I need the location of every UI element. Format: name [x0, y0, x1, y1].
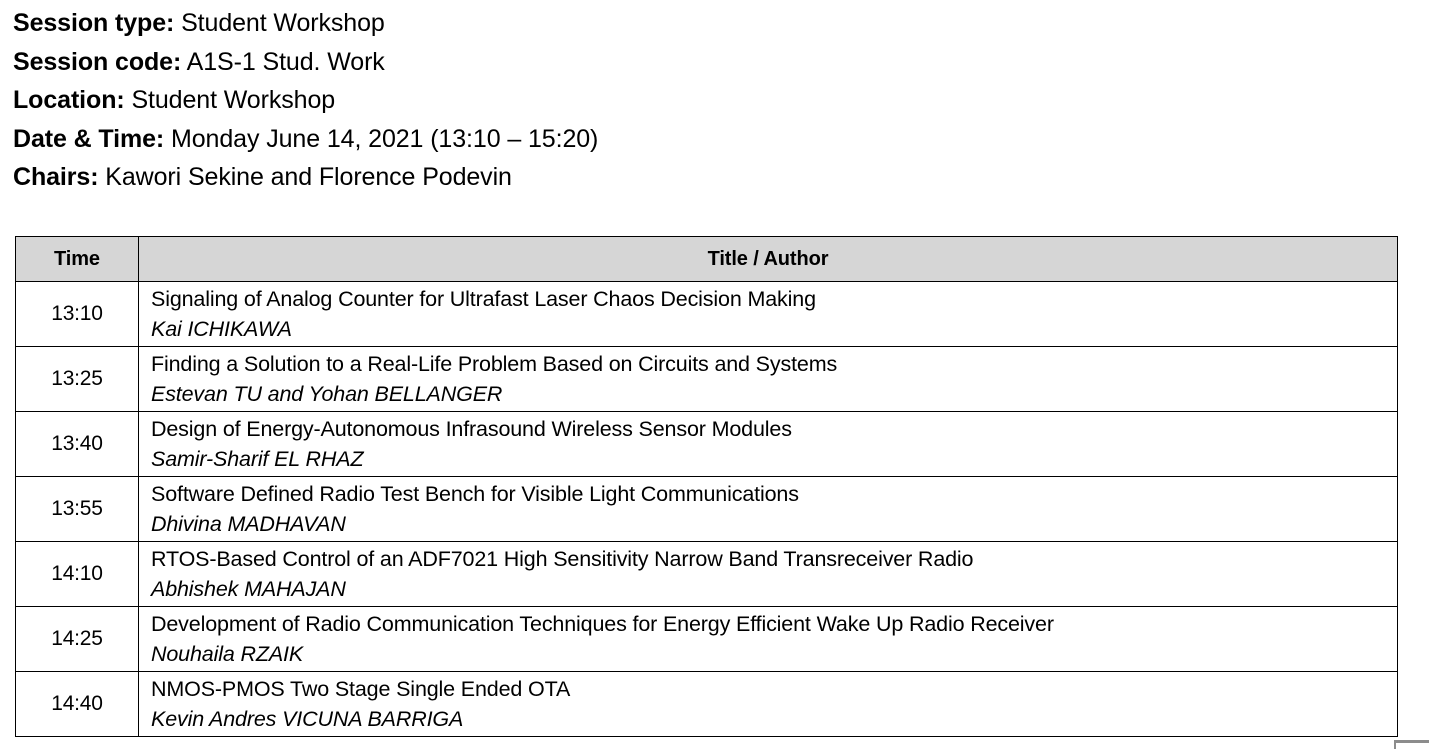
entry-author: Abhishek MAHAJAN [151, 574, 1391, 604]
table-row: 14:40 NMOS-PMOS Two Stage Single Ended O… [16, 672, 1398, 737]
row-entry: Design of Energy-Autonomous Infrasound W… [139, 412, 1398, 477]
entry-title: Finding a Solution to a Real-Life Proble… [151, 349, 1391, 379]
row-time: 14:10 [16, 542, 139, 607]
column-header-time: Time [16, 237, 139, 282]
column-header-title-author: Title / Author [139, 237, 1398, 282]
table-row: 14:10 RTOS-Based Control of an ADF7021 H… [16, 542, 1398, 607]
entry-title: Software Defined Radio Test Bench for Vi… [151, 479, 1391, 509]
row-entry: Development of Radio Communication Techn… [139, 607, 1398, 672]
program-table-container: Time Title / Author 13:10 Signaling of A… [15, 236, 1397, 737]
table-body: 13:10 Signaling of Analog Counter for Ul… [16, 282, 1398, 737]
date-time-line: Date & Time: Monday June 14, 2021 (13:10… [13, 120, 1413, 159]
table-header-row: Time Title / Author [16, 237, 1398, 282]
location-label: Location: [13, 86, 125, 114]
row-time: 13:55 [16, 477, 139, 542]
page-edge-rule [1394, 740, 1429, 743]
table-row: 14:25 Development of Radio Communication… [16, 607, 1398, 672]
row-time: 13:25 [16, 347, 139, 412]
entry-title: Design of Energy-Autonomous Infrasound W… [151, 414, 1391, 444]
row-entry: RTOS-Based Control of an ADF7021 High Se… [139, 542, 1398, 607]
table-row: 13:40 Design of Energy-Autonomous Infras… [16, 412, 1398, 477]
program-table: Time Title / Author 13:10 Signaling of A… [15, 236, 1398, 737]
entry-author: Nouhaila RZAIK [151, 639, 1391, 669]
session-code-line: Session code: A1S-1 Stud. Work [13, 43, 1413, 82]
entry-title: Development of Radio Communication Techn… [151, 609, 1391, 639]
entry-author: Dhivina MADHAVAN [151, 509, 1391, 539]
entry-author: Kai ICHIKAWA [151, 314, 1391, 344]
chairs-line: Chairs: Kawori Sekine and Florence Podev… [13, 158, 1413, 197]
location-value: Student Workshop [125, 86, 335, 114]
entry-title: Signaling of Analog Counter for Ultrafas… [151, 284, 1391, 314]
chairs-label: Chairs: [13, 163, 98, 191]
date-time-label: Date & Time: [13, 125, 164, 153]
row-entry: Software Defined Radio Test Bench for Vi… [139, 477, 1398, 542]
entry-title: RTOS-Based Control of an ADF7021 High Se… [151, 544, 1391, 574]
row-entry: Signaling of Analog Counter for Ultrafas… [139, 282, 1398, 347]
chairs-value: Kawori Sekine and Florence Podevin [98, 163, 511, 191]
table-row: 13:55 Software Defined Radio Test Bench … [16, 477, 1398, 542]
session-code-value: A1S-1 Stud. Work [181, 48, 385, 76]
table-row: 13:10 Signaling of Analog Counter for Ul… [16, 282, 1398, 347]
entry-author: Kevin Andres VICUNA BARRIGA [151, 704, 1391, 734]
row-time: 14:25 [16, 607, 139, 672]
row-entry: Finding a Solution to a Real-Life Proble… [139, 347, 1398, 412]
table-row: 13:25 Finding a Solution to a Real-Life … [16, 347, 1398, 412]
entry-author: Estevan TU and Yohan BELLANGER [151, 379, 1391, 409]
entry-title: NMOS-PMOS Two Stage Single Ended OTA [151, 674, 1391, 704]
row-time: 14:40 [16, 672, 139, 737]
session-type-value: Student Workshop [174, 9, 384, 37]
session-type-label: Session type: [13, 9, 174, 37]
row-entry: NMOS-PMOS Two Stage Single Ended OTA Kev… [139, 672, 1398, 737]
table-header: Time Title / Author [16, 237, 1398, 282]
session-type-line: Session type: Student Workshop [13, 4, 1413, 43]
date-time-value: Monday June 14, 2021 (13:10 – 15:20) [164, 125, 598, 153]
session-code-label: Session code: [13, 48, 181, 76]
entry-author: Samir-Sharif EL RHAZ [151, 444, 1391, 474]
location-line: Location: Student Workshop [13, 81, 1413, 120]
row-time: 13:40 [16, 412, 139, 477]
session-info-block: Session type: Student Workshop Session c… [13, 4, 1413, 197]
row-time: 13:10 [16, 282, 139, 347]
